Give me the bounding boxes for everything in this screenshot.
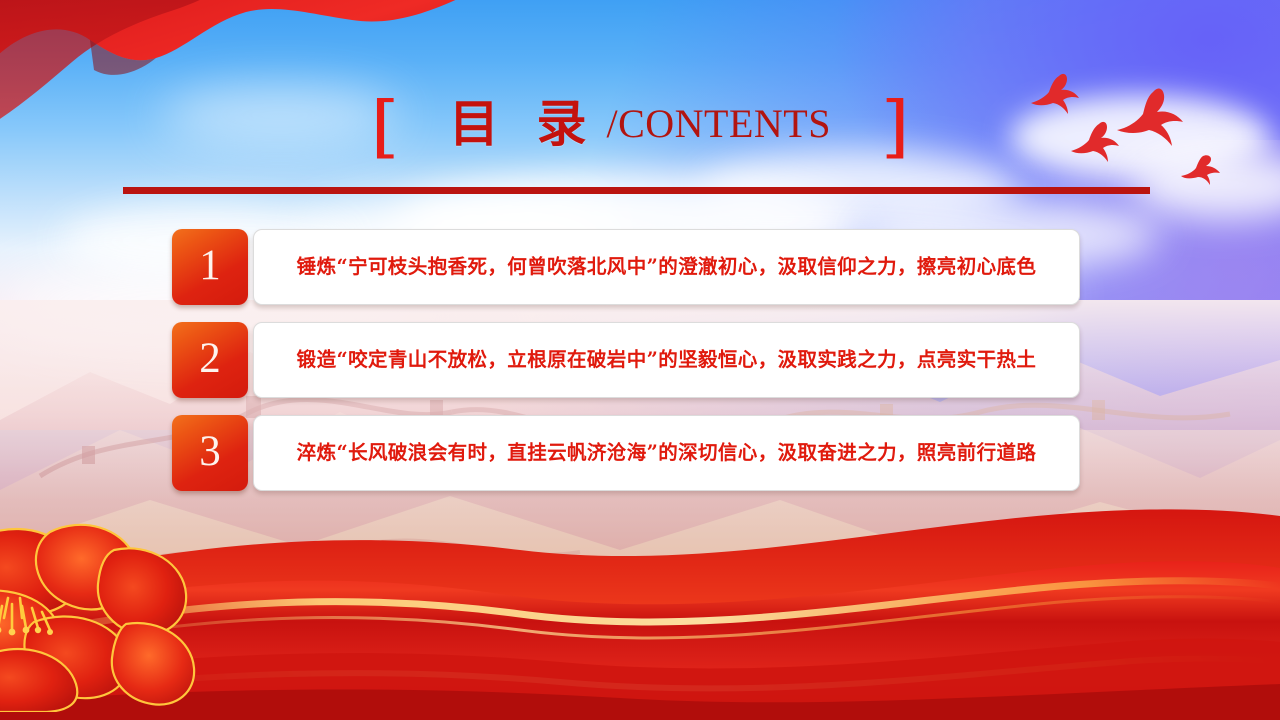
- item-card[interactable]: 淬炼“长风破浪会有时，直挂云帆济沧海”的深切信心，汲取奋进之力，照亮前行道路: [253, 415, 1080, 491]
- item-number-label: 1: [199, 244, 221, 290]
- item-number-badge[interactable]: 3: [172, 415, 248, 491]
- peony-flower-decoration: [0, 502, 244, 712]
- item-text: 锻造“咬定青山不放松，立根原在破岩中”的坚毅恒心，汲取实践之力，点亮实干热土: [270, 346, 1063, 374]
- contents-list: 1 锤炼“宁可枝头抱香死，何曾吹落北风中”的澄澈初心，汲取信仰之力，擦亮初心底色…: [0, 229, 1280, 508]
- list-item[interactable]: 3 淬炼“长风破浪会有时，直挂云帆济沧海”的深切信心，汲取奋进之力，照亮前行道路: [0, 415, 1280, 491]
- title-english: /CONTENTS: [606, 104, 831, 144]
- slide-canvas: [ 目 录 /CONTENTS ] 1 锤炼“宁可枝头抱香死，何曾吹落北风中”的…: [0, 0, 1280, 720]
- list-item[interactable]: 2 锻造“咬定青山不放松，立根原在破岩中”的坚毅恒心，汲取实践之力，点亮实干热土: [0, 322, 1280, 398]
- item-number-label: 3: [199, 430, 221, 476]
- item-text: 锤炼“宁可枝头抱香死，何曾吹落北风中”的澄澈初心，汲取信仰之力，擦亮初心底色: [270, 253, 1063, 281]
- item-card[interactable]: 锻造“咬定青山不放松，立根原在破岩中”的坚毅恒心，汲取实践之力，点亮实干热土: [253, 322, 1080, 398]
- list-item[interactable]: 1 锤炼“宁可枝头抱香死，何曾吹落北风中”的澄澈初心，汲取信仰之力，擦亮初心底色: [0, 229, 1280, 305]
- bracket-left-icon: [: [371, 91, 394, 156]
- item-text: 淬炼“长风破浪会有时，直挂云帆济沧海”的深切信心，汲取奋进之力，照亮前行道路: [270, 439, 1063, 467]
- item-number-label: 2: [199, 337, 221, 383]
- item-number-badge[interactable]: 1: [172, 229, 248, 305]
- title-chinese: 目 录: [449, 99, 596, 149]
- page-title: [ 目 录 /CONTENTS ]: [0, 84, 1280, 164]
- bracket-right-icon: ]: [886, 91, 909, 156]
- item-card[interactable]: 锤炼“宁可枝头抱香死，何曾吹落北风中”的澄澈初心，汲取信仰之力，擦亮初心底色: [253, 229, 1080, 305]
- title-divider: [123, 187, 1150, 194]
- item-number-badge[interactable]: 2: [172, 322, 248, 398]
